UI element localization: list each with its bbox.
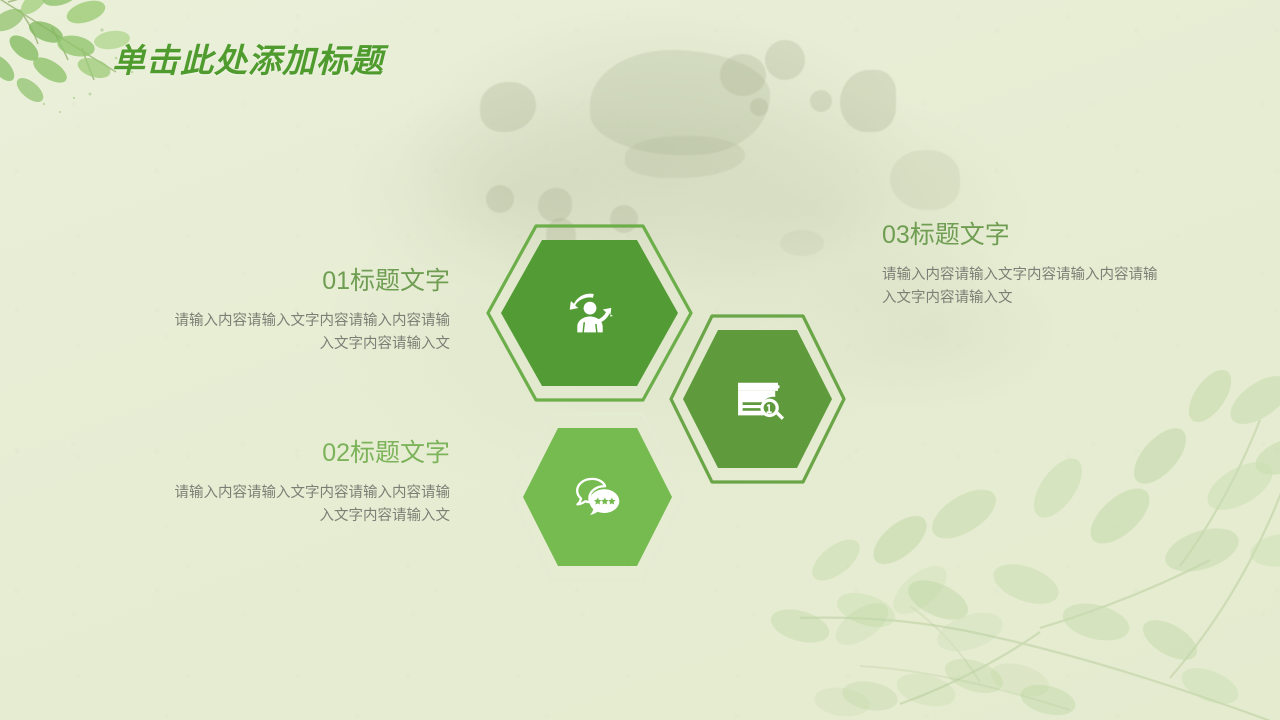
text-block-03: 03标题文字 请输入内容请输入文字内容请输入内容请输入文字内容请输入文 bbox=[882, 222, 1172, 310]
slide-canvas: 单击此处添加标题 01标题文字 请输入内容请输入文字内容请输入内容请输入文字内容… bbox=[0, 0, 1280, 720]
block-03-heading: 03标题文字 bbox=[882, 222, 1172, 250]
page-title: 单击此处添加标题 bbox=[112, 34, 384, 82]
hexagon-card-02[interactable] bbox=[505, 408, 690, 586]
block-02-heading: 02标题文字 bbox=[160, 440, 450, 468]
hexagon-cluster bbox=[480, 210, 880, 610]
block-01-body: 请输入内容请输入文字内容请输入内容请输入文字内容请输入文 bbox=[165, 310, 450, 357]
hexagon-card-03[interactable] bbox=[665, 310, 850, 488]
block-03-body: 请输入内容请输入文字内容请输入内容请输入文字内容请输入文 bbox=[882, 264, 1167, 311]
block-01-heading: 01标题文字 bbox=[160, 268, 450, 296]
text-block-02: 02标题文字 请输入内容请输入文字内容请输入内容请输入文字内容请输入文 bbox=[160, 440, 450, 528]
block-02-body: 请输入内容请输入文字内容请输入内容请输入文字内容请输入文 bbox=[165, 482, 450, 529]
text-block-01: 01标题文字 请输入内容请输入文字内容请输入内容请输入文字内容请输入文 bbox=[160, 268, 450, 356]
